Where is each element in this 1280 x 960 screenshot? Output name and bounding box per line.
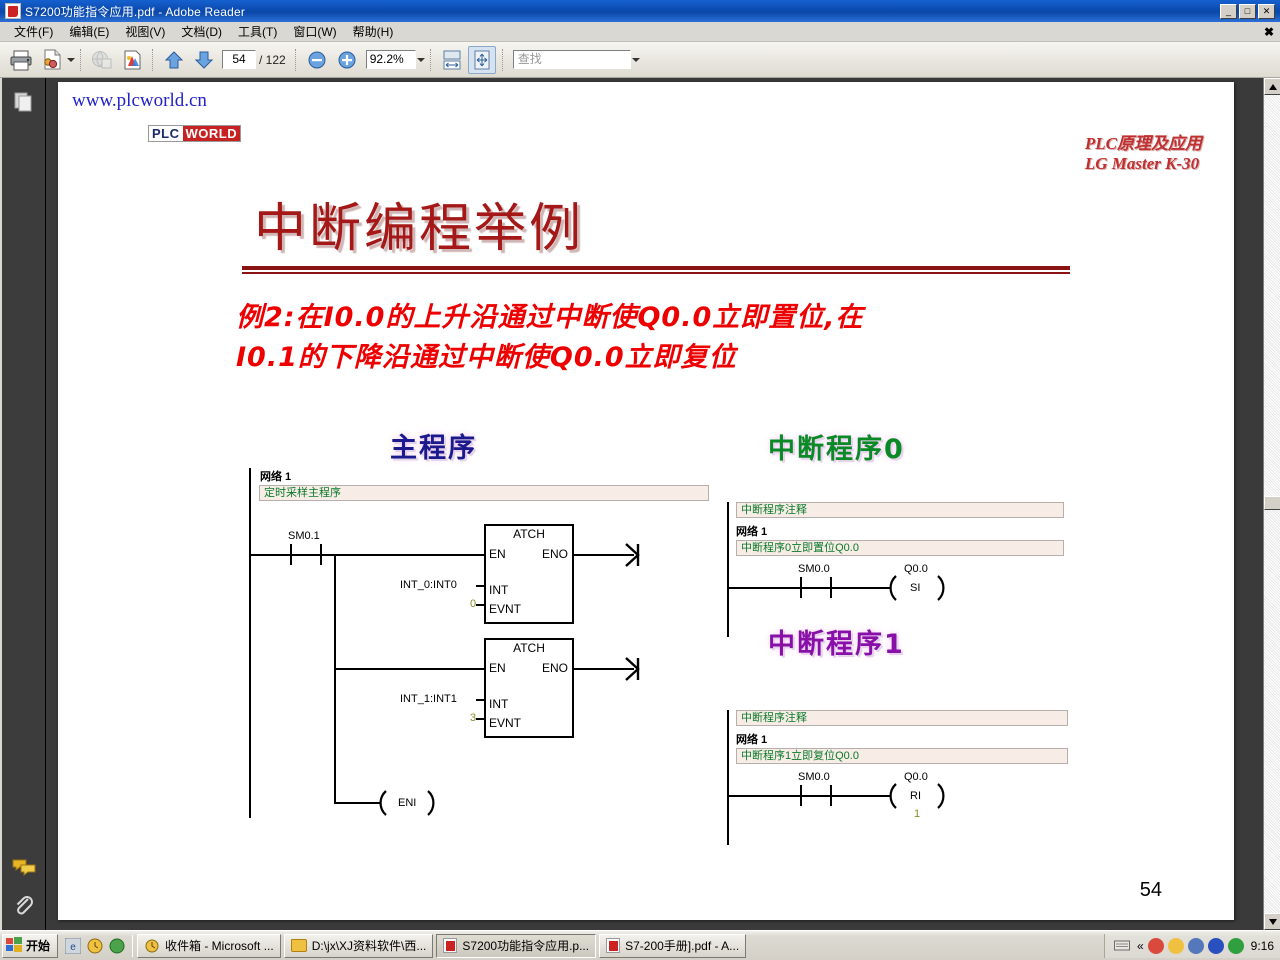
int1-contact-right-bar: [830, 785, 832, 806]
pdf-icon: [443, 938, 457, 953]
example-line-2: I0.1的下降沿通过中断使Q0.0立即复位: [236, 338, 1066, 378]
int0-routine-comment: 中断程序注释: [736, 502, 1064, 518]
atch-block-2-evnt-label: EVNT: [489, 716, 521, 730]
int0-contact-left-bar: [800, 577, 802, 598]
atch-block-1-en: EN: [489, 547, 506, 561]
main-program-title: 主程序: [390, 426, 477, 465]
main-network-label: 网络 1: [260, 468, 291, 484]
int1-coil-type: RI: [910, 790, 921, 802]
minimize-button[interactable]: _: [1220, 4, 1237, 19]
atch-block-2-output-arrow: [624, 656, 644, 682]
toolbar-separator-5: [502, 49, 504, 71]
network-icon[interactable]: [1188, 938, 1204, 954]
maximize-button[interactable]: □: [1239, 4, 1256, 19]
zoom-level-input[interactable]: 92.2%: [366, 50, 416, 69]
taskbar-item-s7200-manual-pdf-label: S7-200手册].pdf - A...: [625, 937, 739, 954]
scrollbar-thumb[interactable]: [1264, 496, 1280, 510]
taskbar-item-outlook-label: 收件箱 - Microsoft ...: [165, 937, 274, 954]
int0-rung-wire: [727, 587, 890, 589]
comments-icon[interactable]: [9, 852, 39, 882]
volume-icon[interactable]: [1208, 938, 1224, 954]
int1-rung-wire: [727, 795, 890, 797]
toolbar-separator-1: [80, 49, 82, 71]
int1-routine-comment: 中断程序注释: [736, 710, 1068, 726]
int1-network-label: 网络 1: [736, 731, 767, 747]
atch-block-1-evnt-wire: [476, 604, 486, 606]
int0-network-comment: 中断程序0立即置位Q0.0: [736, 540, 1064, 556]
atch-block-1-name: ATCH: [486, 527, 572, 541]
menu-item-window[interactable]: 窗口(W): [285, 22, 344, 41]
atch-block-2-name: ATCH: [486, 641, 572, 655]
main-network-comment: 定时采样主程序: [259, 485, 709, 501]
document-workspace: www.plcworld.cn PLC WORLD PLC原理及应用 LG Ma…: [0, 78, 1280, 930]
window-controls: _ □ ✕: [1220, 4, 1278, 19]
quicklaunch-ie-icon[interactable]: e: [64, 937, 82, 955]
main-program-ladder: 网络 1 定时采样主程序 SM0.1 ATCH EN: [248, 468, 710, 818]
slide-title: 中断编程举例: [254, 186, 584, 261]
atch-block-2-eno: ENO: [542, 661, 568, 675]
slide-page-number: 54: [1140, 879, 1162, 902]
email-dropdown-icon[interactable]: [67, 58, 75, 62]
paperclip-icon[interactable]: [9, 890, 39, 920]
interrupt1-ladder: 中断程序注释 网络 1 中断程序1立即复位Q0.0 SM0.0 Q0.0 RI …: [726, 710, 1066, 845]
main-contact-label: SM0.1: [288, 530, 320, 542]
atch-block-1-eno: ENO: [542, 547, 568, 561]
fit-page-button[interactable]: [468, 46, 496, 74]
interrupt0-ladder: 中断程序注释 网络 1 中断程序0立即置位Q0.0 SM0.0 Q0.0 SI: [726, 502, 1066, 637]
int0-network-label: 网络 1: [736, 523, 767, 539]
taskbar-clock[interactable]: 9:16: [1251, 939, 1274, 953]
menu-bar: 文件(F) 编辑(E) 视图(V) 文档(D) 工具(T) 窗口(W) 帮助(H…: [0, 22, 1280, 42]
print-button[interactable]: [7, 46, 35, 74]
taskbar-item-folder[interactable]: D:\jx\XJ资料软件\西...: [284, 934, 434, 958]
pdf-page: www.plcworld.cn PLC WORLD PLC原理及应用 LG Ma…: [58, 82, 1234, 920]
atch-block-2: ATCH EN ENO INT EVNT: [484, 638, 574, 738]
int0-power-rail: [727, 502, 729, 637]
atch-block-2-en: EN: [489, 661, 506, 675]
web-capture-button: [88, 46, 116, 74]
atch-block-1-int-label: INT: [489, 583, 508, 597]
start-button-label: 开始: [26, 937, 50, 954]
example-line-1: 例2:在I0.0的上升沿通过中断使Q0.0立即置位,在: [236, 298, 1066, 338]
menu-item-edit[interactable]: 编辑(E): [61, 22, 117, 41]
fit-width-button[interactable]: [438, 46, 466, 74]
snapshot-button[interactable]: [118, 46, 146, 74]
keyboard-ime-icon[interactable]: [1113, 937, 1131, 955]
vertical-scrollbar[interactable]: [1263, 78, 1280, 930]
toolbar: 54 / 122 92.2%: [0, 42, 1280, 78]
quicklaunch-clock-icon[interactable]: [86, 937, 104, 955]
website-url: www.plcworld.cn: [72, 90, 207, 112]
atch-block-2-evnt-wire: [476, 718, 486, 720]
plcworld-logo: PLC WORLD: [148, 125, 241, 142]
adobe-reader-window: S7200功能指令应用.pdf - Adobe Reader _ □ ✕ 文件(…: [0, 0, 1280, 960]
int1-network-comment: 中断程序1立即复位Q0.0: [736, 748, 1068, 764]
main-branch-wire-2: [334, 668, 486, 670]
pdf-icon: [606, 938, 620, 953]
navigation-pane: [0, 78, 46, 930]
start-button[interactable]: 开始: [2, 934, 58, 958]
zoom-dropdown-icon[interactable]: [417, 58, 425, 62]
next-page-button[interactable]: [190, 46, 218, 74]
eni-wire: [334, 802, 380, 804]
window-title: S7200功能指令应用.pdf - Adobe Reader: [25, 3, 245, 20]
atch-block-2-int-wire: [476, 699, 486, 701]
atch-block-1-evnt-label: EVNT: [489, 602, 521, 616]
int0-contact-right-bar: [830, 577, 832, 598]
search-input[interactable]: 查找: [513, 50, 631, 69]
window-titlebar: S7200功能指令应用.pdf - Adobe Reader _ □ ✕: [0, 0, 1280, 22]
tray-expand-icon[interactable]: «: [1137, 939, 1144, 953]
taskbar: 开始 e 收件箱 - Microsoft ... D:\jx\XJ资料软件\西.…: [0, 930, 1280, 960]
course-header-line1: PLC原理及应用: [1085, 134, 1202, 154]
svg-text:e: e: [70, 942, 76, 953]
eni-coil-label: ENI: [398, 797, 416, 809]
main-contact-right-bar: [320, 544, 322, 565]
scroll-up-arrow-icon[interactable]: [1264, 78, 1280, 95]
atch-block-2-int-label: INT: [489, 697, 508, 711]
system-tray: « 9:16: [1104, 934, 1280, 958]
page-total-label: / 122: [259, 53, 286, 67]
main-power-rail: [249, 468, 251, 818]
close-button[interactable]: ✕: [1258, 4, 1275, 19]
taskbar-item-s7200-pdf[interactable]: S7200功能指令应用.p...: [436, 934, 596, 958]
course-header-line2: LG Master K-30: [1085, 154, 1202, 174]
taskbar-divider: [132, 935, 133, 957]
main-branch-rail: [334, 554, 336, 804]
email-document-button[interactable]: [37, 46, 65, 74]
zoom-in-button[interactable]: [333, 46, 361, 74]
pdf-document-icon: [5, 3, 21, 19]
atch-block-1: ATCH EN ENO INT EVNT: [484, 524, 574, 624]
toolbar-separator-3: [295, 49, 297, 71]
page-number-input[interactable]: 54: [222, 50, 256, 69]
taskbar-item-s7200-manual-pdf[interactable]: S7-200手册].pdf - A...: [599, 934, 746, 958]
scroll-down-arrow-icon[interactable]: [1264, 913, 1280, 930]
quicklaunch-app-icon[interactable]: [108, 937, 126, 955]
menu-item-tools[interactable]: 工具(T): [230, 22, 285, 41]
course-header: PLC原理及应用 LG Master K-30: [1085, 134, 1202, 174]
pages-thumbnail-icon[interactable]: [9, 86, 39, 116]
menu-item-help[interactable]: 帮助(H): [345, 22, 402, 41]
taskbar-item-s7200-pdf-label: S7200功能指令应用.p...: [462, 937, 589, 954]
antivirus-icon[interactable]: [1148, 938, 1164, 954]
windows-flag-icon: [6, 937, 22, 955]
main-contact-left-bar: [290, 544, 292, 565]
outlook-icon: [144, 938, 160, 954]
menu-item-view[interactable]: 视图(V): [117, 22, 173, 41]
atch-block-1-output-arrow: [624, 542, 644, 568]
int1-contact-label: SM0.0: [798, 771, 830, 783]
taskbar-item-folder-label: D:\jx\XJ资料软件\西...: [312, 937, 427, 954]
int1-power-rail: [727, 710, 729, 845]
update-icon[interactable]: [1228, 938, 1244, 954]
int1-coil-operand: 1: [914, 808, 920, 820]
int1-contact-left-bar: [800, 785, 802, 806]
menu-item-document[interactable]: 文档(D): [173, 22, 230, 41]
interrupt0-title: 中断程序0: [768, 427, 905, 466]
example-statement: 例2:在I0.0的上升沿通过中断使Q0.0立即置位,在 I0.1的下降沿通过中断…: [236, 298, 1066, 378]
zoom-out-button[interactable]: [303, 46, 331, 74]
folder-icon: [291, 939, 307, 952]
title-rule-thin: [242, 272, 1070, 274]
search-dropdown-icon[interactable]: [632, 58, 640, 62]
main-branch-wire-1: [334, 554, 486, 556]
menu-item-file[interactable]: 文件(F): [6, 22, 61, 41]
logo-text-world: WORLD: [183, 126, 241, 141]
toolbar-separator-2: [152, 49, 154, 71]
close-document-icon[interactable]: ✖: [1264, 25, 1274, 39]
atch-block-1-int-value: INT_0:INT0: [400, 579, 457, 591]
int0-coil-type: SI: [910, 582, 920, 594]
clock-icon[interactable]: [1168, 938, 1184, 954]
int0-contact-label: SM0.0: [798, 563, 830, 575]
page-viewport[interactable]: www.plcworld.cn PLC WORLD PLC原理及应用 LG Ma…: [48, 78, 1250, 930]
toolbar-separator-4: [430, 49, 432, 71]
previous-page-button[interactable]: [160, 46, 188, 74]
atch-block-2-int-value: INT_1:INT1: [400, 693, 457, 705]
title-rule-thick: [242, 266, 1070, 270]
atch-block-1-int-wire: [476, 585, 486, 587]
logo-text-plc: PLC: [149, 126, 183, 141]
taskbar-item-outlook[interactable]: 收件箱 - Microsoft ...: [137, 934, 281, 958]
